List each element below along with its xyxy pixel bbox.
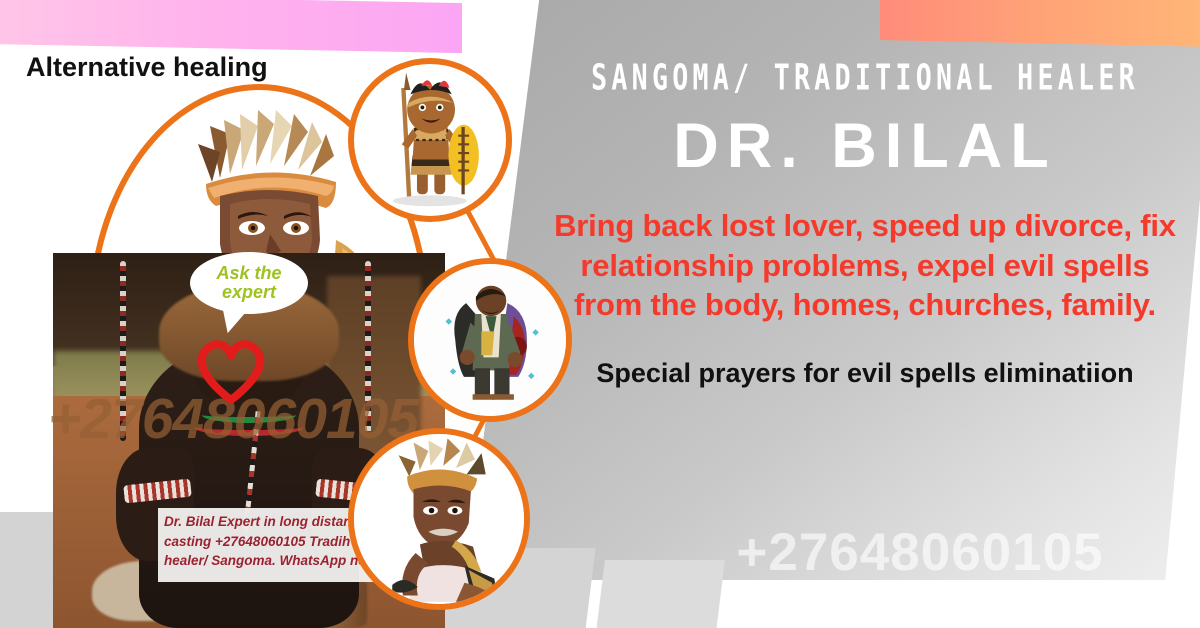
kicker-text: SANGOMA/ TRADITIONAL HEALER xyxy=(556,56,1174,98)
ghost-phone-number: +27648060105 xyxy=(640,522,1200,583)
page-title: Alternative healing xyxy=(26,52,268,83)
orange-top-bar xyxy=(880,0,1200,47)
right-content-column: SANGOMA/ TRADITIONAL HEALER DR. BILAL Br… xyxy=(540,56,1190,391)
special-prayers-text: Special prayers for evil spells eliminat… xyxy=(540,355,1190,391)
poster-canvas: Alternative healing xyxy=(0,0,1200,628)
circle-kneeling-dancer xyxy=(348,428,530,610)
circle-zulu-warrior xyxy=(348,58,512,222)
kneeling-dancer-icon xyxy=(354,434,524,604)
zulu-warrior-icon xyxy=(354,64,506,216)
caption-line-3: healer/ Sangoma. WhatsApp ne xyxy=(164,551,384,571)
pink-top-bar xyxy=(0,0,462,53)
speech-bubble-label: Ask the expert xyxy=(190,264,308,303)
healer-name: DR. BILAL xyxy=(540,115,1190,178)
services-text: Bring back lost lover, speed up divorce,… xyxy=(540,206,1190,325)
heart-outline-icon xyxy=(192,332,270,404)
grey-accent-bottom-left xyxy=(0,512,56,628)
speech-bubble: Ask the expert xyxy=(190,252,308,314)
